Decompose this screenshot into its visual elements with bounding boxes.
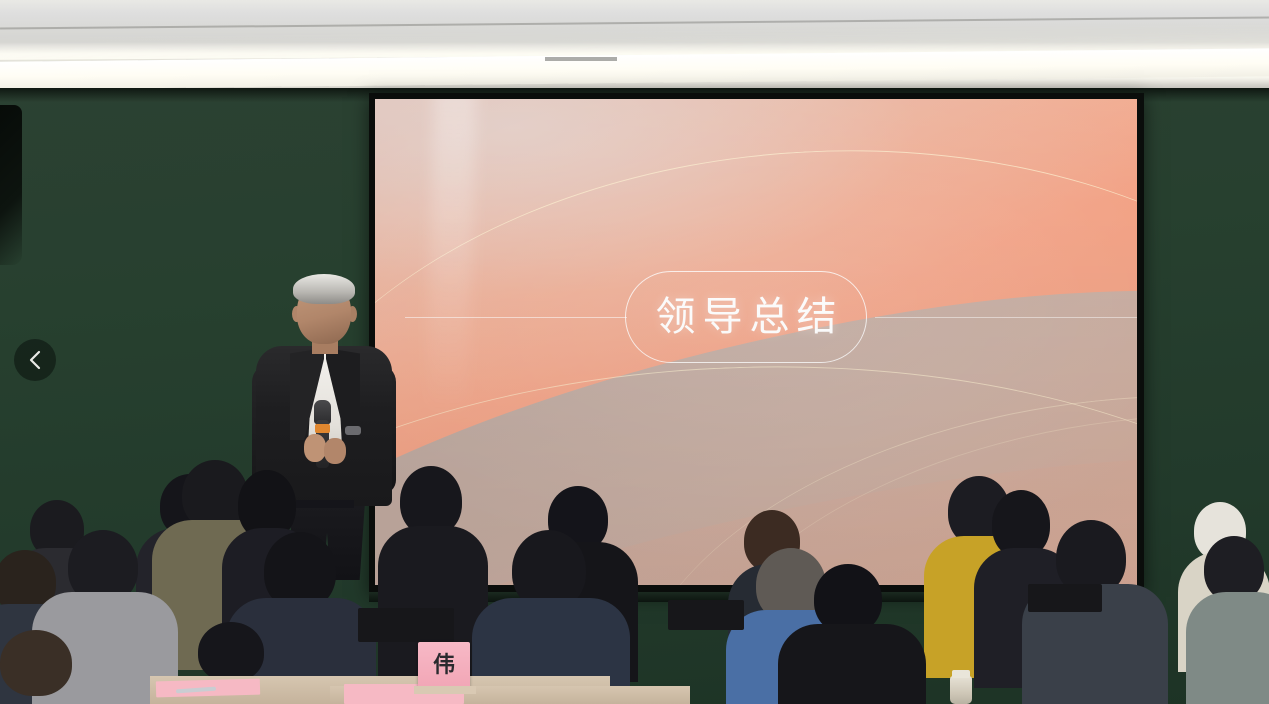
wall-corner-fixture <box>0 105 22 265</box>
audience: 伟 <box>0 452 1269 704</box>
presenter-hair <box>293 274 355 304</box>
torso <box>778 624 926 704</box>
presentation-photo-viewer: 领导总结 <box>0 0 1269 704</box>
presenter-wristwatch <box>345 426 361 435</box>
water-bottle-cap <box>952 670 970 678</box>
torso <box>1186 592 1269 704</box>
ceiling-vent <box>545 57 617 61</box>
ceiling-seam <box>0 16 1269 29</box>
head <box>0 630 72 696</box>
head <box>198 622 264 682</box>
laptop <box>668 600 744 630</box>
name-card-text: 伟 <box>433 654 455 676</box>
name-card: 伟 <box>418 642 470 688</box>
name-card-stand <box>414 686 476 694</box>
chevron-left-icon <box>27 349 43 371</box>
laptop <box>358 608 454 642</box>
water-bottle <box>950 676 972 704</box>
previous-slide-button[interactable] <box>14 339 56 381</box>
laptop <box>1028 584 1102 612</box>
microphone-accent-ring <box>315 424 330 433</box>
